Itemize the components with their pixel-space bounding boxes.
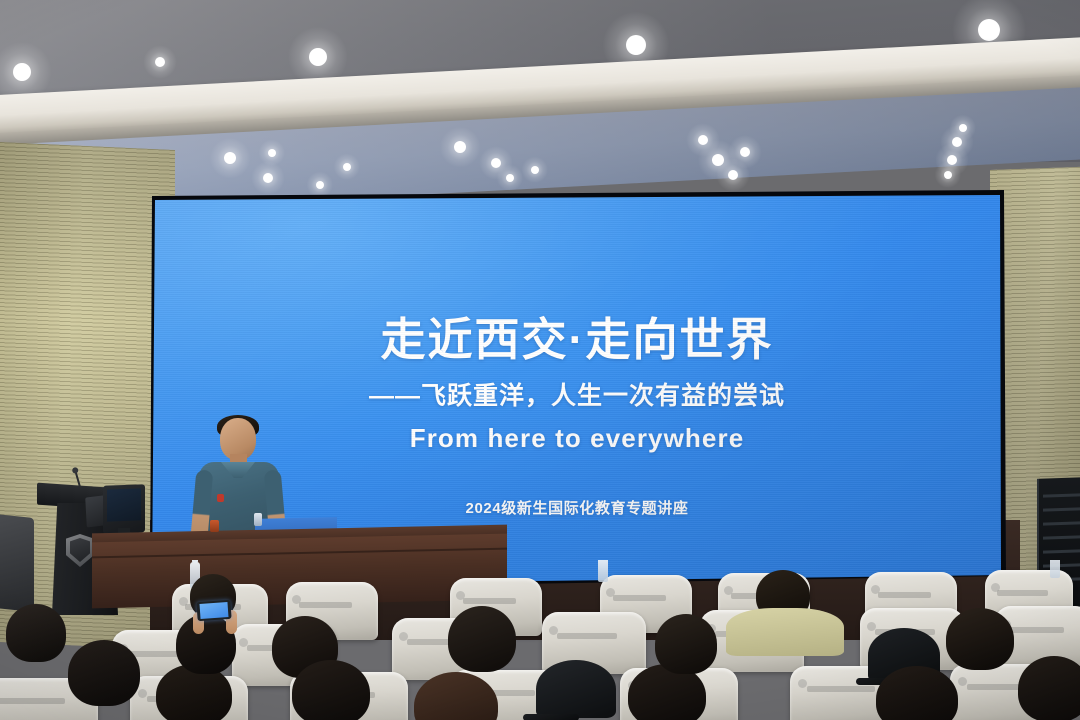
audience-head [1018,656,1080,720]
water-bottle-2 [598,560,608,582]
ceiling-downlight [728,170,738,180]
ceiling-downlight [454,141,466,153]
ceiling-downlight [316,181,324,189]
audience-shoulders [726,608,844,656]
ceiling-downlight [740,147,750,157]
slide-subtitle: ——飞跃重洋，人生一次有益的尝试 [369,384,785,409]
ceiling-downlight [268,149,276,157]
ceiling-downlight [978,19,1000,41]
ceiling-downlight [263,173,273,183]
smartphone[interactable] [196,600,231,621]
desk-bottle [254,513,262,526]
slide-subtitle-en: From here to everywhere [410,425,745,451]
ceiling-downlight [309,48,327,66]
presenter-badge [217,494,224,502]
ceiling-downlight [491,158,501,168]
water-bottle-3 [1050,560,1060,578]
ceiling-downlight [13,63,31,81]
desk-monitor[interactable] [103,484,145,533]
smartphone-screen [200,602,229,619]
ceiling-downlight [506,174,514,182]
audience-head [292,660,370,720]
desk-cup [210,520,219,532]
audience-head [6,604,66,662]
audience-cap [536,660,616,718]
slide-title: 走近西交·走向世界 [381,317,774,362]
ceiling-downlight [959,124,967,132]
ceiling-downlight [698,135,708,145]
ceiling-downlight [626,35,646,55]
monitor-screen [107,488,141,521]
ceiling-downlight [343,163,351,171]
ceiling-downlight [531,166,539,174]
audience-head [946,608,1014,670]
ceiling-downlight [155,57,165,67]
audience-head [655,614,717,674]
ceiling-downlight [224,152,236,164]
lecture-hall-photo: 走近西交·走向世界 ——飞跃重洋，人生一次有益的尝试 From here to … [0,0,1080,720]
audience-area [0,560,1080,720]
slide-footer: 2024级新生国际化教育专题讲座 [466,497,689,518]
audience-head [68,640,140,706]
audience-head [876,666,958,720]
ceiling-downlight [944,171,952,179]
audience-head [448,606,516,672]
